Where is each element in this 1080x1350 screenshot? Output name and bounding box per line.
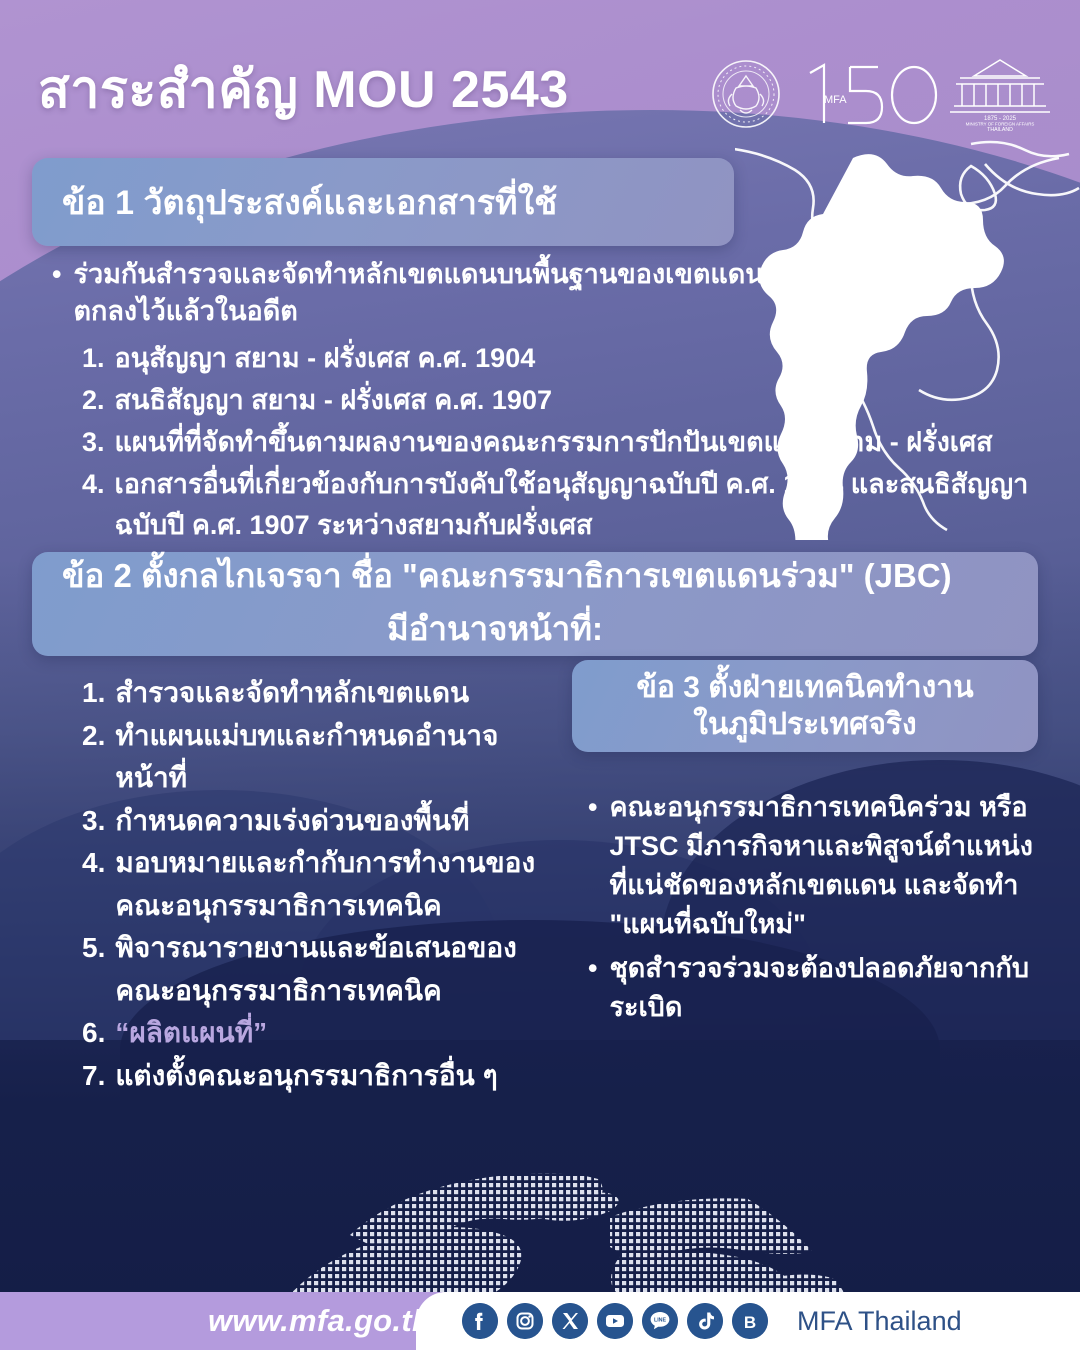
list-item: 3. แผนที่ที่จัดทำขึ้นตามผลงานของคณะกรรมก… (82, 422, 1072, 464)
list-number: 4. (82, 842, 105, 927)
page-title: สาระสำคัญ MOU 2543 (38, 62, 569, 119)
list-text-highlighted: “ผลิตแผนที่” (115, 1012, 562, 1055)
list-item: 4. เอกสารอื่นที่เกี่ยวข้องกับการบังคับใช… (82, 464, 1072, 548)
list-number: 7. (82, 1055, 105, 1098)
section-2-heading-line-2: มีอำนาจหน้าที่: (387, 602, 603, 655)
blockdit-icon[interactable]: B (732, 1303, 768, 1339)
list-number: 3. (82, 422, 105, 464)
section-2-heading-line-1: ข้อ 2 ตั้งกลไกเจรจา ชื่อ "คณะกรรมาธิการเ… (62, 549, 952, 602)
section-3-bullets: • คณะอนุกรรมาธิการเทคนิคร่วม หรือ JTSC ม… (588, 788, 1040, 1031)
list-item: 6. “ผลิตแผนที่” (82, 1012, 562, 1055)
facebook-icon[interactable] (462, 1303, 498, 1339)
list-text: สนธิสัญญา สยาม - ฝรั่งเศส ค.ศ. 1907 (115, 380, 1072, 422)
list-item: 7. แต่งตั้งคณะอนุกรรมาธิการอื่น ๆ (82, 1055, 562, 1098)
list-number: 1. (82, 672, 105, 715)
section-1-numbered-list: 1. อนุสัญญา สยาม - ฝรั่งเศส ค.ศ. 1904 2.… (82, 338, 1072, 547)
list-number: 2. (82, 380, 105, 422)
150-years-icon: MFA (792, 57, 942, 131)
list-item: 1. อนุสัญญา สยาม - ฝรั่งเศส ค.ศ. 1904 (82, 338, 1072, 380)
list-text: อนุสัญญา สยาม - ฝรั่งเศส ค.ศ. 1904 (115, 338, 1072, 380)
list-item: 3. กำหนดความเร่งด่วนของพื้นที่ (82, 800, 562, 843)
section-3-heading-line-1: ข้อ 3 ตั้งฝ่ายเทคนิคทำงาน (636, 669, 973, 707)
list-item: 4. มอบหมายและกำกับการทำงานของคณะอนุกรรมา… (82, 842, 562, 927)
list-item: 5. พิจารณารายงานและข้อเสนอของคณะอนุกรรมา… (82, 927, 562, 1012)
account-name-label: MFA Thailand (797, 1306, 962, 1337)
list-item: • ชุดสำรวจร่วมจะต้องปลอดภัยจากกับระเบิด (588, 949, 1040, 1027)
list-item: 1. สำรวจและจัดทำหลักเขตแดน (82, 672, 562, 715)
svg-text:B: B (744, 1313, 756, 1332)
list-item: 2. ทำแผนแม่บทและกำหนดอำนาจหน้าที่ (82, 715, 562, 800)
line-icon[interactable]: LINE (642, 1303, 678, 1339)
list-item: • คณะอนุกรรมาธิการเทคนิคร่วม หรือ JTSC ม… (588, 788, 1040, 945)
website-url[interactable]: www.mfa.go.th (208, 1292, 431, 1350)
list-number: 4. (82, 464, 105, 548)
list-number: 5. (82, 927, 105, 1012)
list-text: พิจารณารายงานและข้อเสนอของคณะอนุกรรมาธิก… (115, 927, 562, 1012)
tiktok-icon[interactable] (687, 1303, 723, 1339)
mfa-mark-label: MFA (824, 94, 847, 106)
svg-text:LINE: LINE (654, 1317, 667, 1323)
bullet-dot-icon: • (588, 788, 597, 945)
bullet-dot-icon: • (588, 949, 597, 1027)
bullet-text: ชุดสำรวจร่วมจะต้องปลอดภัยจากกับระเบิด (609, 949, 1040, 1027)
x-twitter-icon[interactable] (552, 1303, 588, 1339)
mfa-logo-group: MFA 1875 - 2025 MINISTRY OF FOREIGN AFFA… (710, 56, 1054, 132)
list-number: 2. (82, 715, 105, 800)
section-1-heading-text: ข้อ 1 วัตถุประสงค์และเอกสารที่ใช้ (62, 175, 557, 229)
youtube-icon[interactable] (597, 1303, 633, 1339)
section-1-heading-pill: ข้อ 1 วัตถุประสงค์และเอกสารที่ใช้ (32, 158, 734, 246)
bullet-text: คณะอนุกรรมาธิการเทคนิคร่วม หรือ JTSC มีภ… (609, 788, 1040, 945)
list-text: ทำแผนแม่บทและกำหนดอำนาจหน้าที่ (115, 715, 562, 800)
bullet-dot-icon: • (52, 256, 61, 331)
list-text: เอกสารอื่นที่เกี่ยวข้องกับการบังคับใช้อน… (115, 464, 1072, 548)
list-number: 6. (82, 1012, 105, 1055)
section-3-heading-pill: ข้อ 3 ตั้งฝ่ายเทคนิคทำงาน ในภูมิประเทศจร… (572, 660, 1038, 752)
section-1-bullets: • ร่วมกันสำรวจและจัดทำหลักเขตแดนบนพื้นฐา… (52, 256, 842, 331)
bullet-text: ร่วมกันสำรวจและจัดทำหลักเขตแดนบนพื้นฐานข… (73, 256, 842, 331)
social-links-panel: LINE B MFA Thailand (416, 1292, 1080, 1350)
section-3-heading-line-2: ในภูมิประเทศจริง (693, 706, 916, 744)
ministry-building-icon: 1875 - 2025 MINISTRY OF FOREIGN AFFAIRS … (946, 56, 1054, 132)
list-text: แผนที่ที่จัดทำขึ้นตามผลงานของคณะกรรมการป… (115, 422, 1072, 464)
logo-country-label: THAILAND (987, 127, 1013, 132)
list-text: มอบหมายและกำกับการทำงานของคณะอนุกรรมาธิก… (115, 842, 562, 927)
anniversary-mark: MFA 1875 - 2025 MINISTRY OF FOREIGN AFFA… (792, 56, 1054, 132)
infographic-poster: สาระสำคัญ MOU 2543 MFA 18 (0, 0, 1080, 1350)
logo-org-label: MINISTRY OF FOREIGN AFFAIRS (966, 122, 1035, 127)
list-text: สำรวจและจัดทำหลักเขตแดน (115, 672, 562, 715)
list-text: แต่งตั้งคณะอนุกรรมาธิการอื่น ๆ (115, 1055, 562, 1098)
instagram-icon[interactable] (507, 1303, 543, 1339)
section-2-numbered-list: 1. สำรวจและจัดทำหลักเขตแดน 2. ทำแผนแม่บท… (82, 672, 562, 1097)
section-2-heading-pill: ข้อ 2 ตั้งกลไกเจรจา ชื่อ "คณะกรรมาธิการเ… (32, 552, 1038, 656)
royal-garuda-seal-icon (710, 58, 782, 130)
list-item: 2. สนธิสัญญา สยาม - ฝรั่งเศส ค.ศ. 1907 (82, 380, 1072, 422)
list-text: กำหนดความเร่งด่วนของพื้นที่ (115, 800, 562, 843)
list-number: 1. (82, 338, 105, 380)
list-item: • ร่วมกันสำรวจและจัดทำหลักเขตแดนบนพื้นฐา… (52, 256, 842, 331)
list-number: 3. (82, 800, 105, 843)
footer-bar: www.mfa.go.th (0, 1292, 1080, 1350)
